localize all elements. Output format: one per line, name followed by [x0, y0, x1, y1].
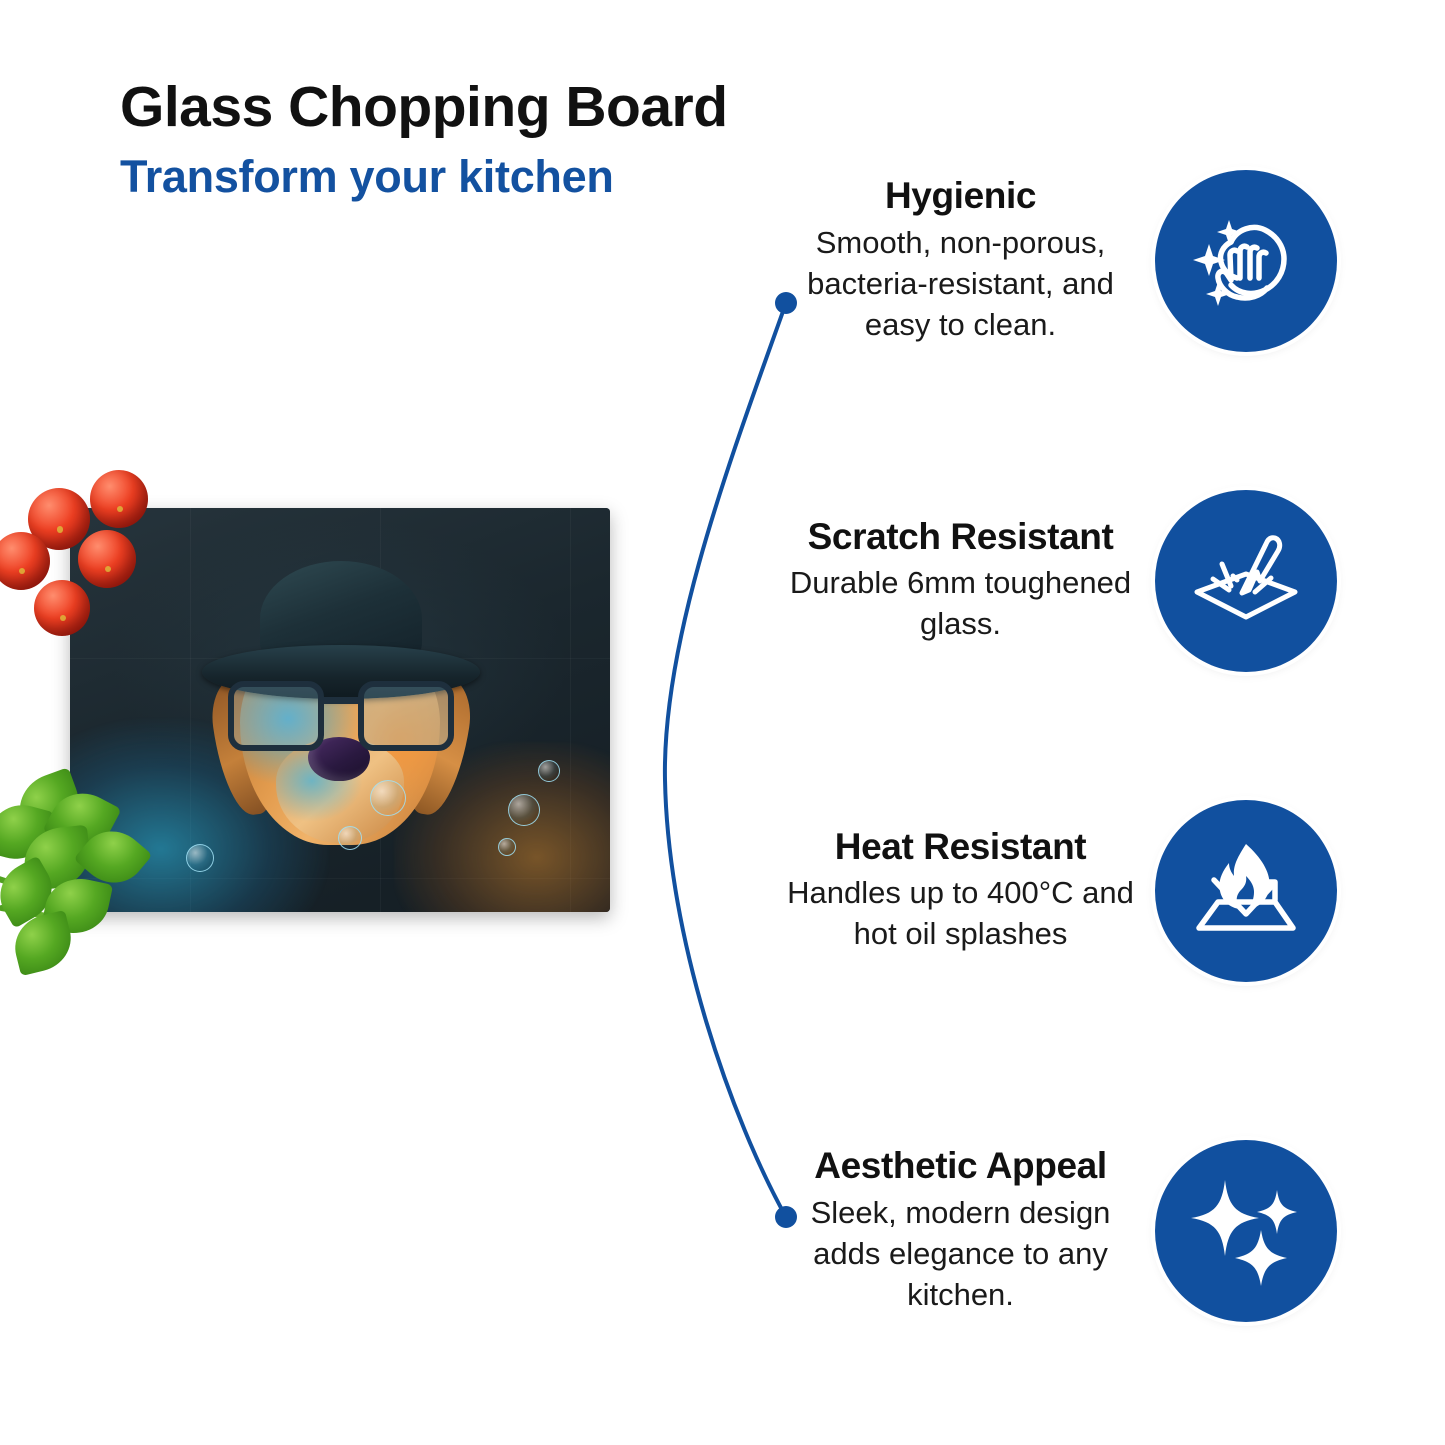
- water-bubble: [498, 838, 516, 856]
- water-bubble: [538, 760, 560, 782]
- cherry-tomato: [90, 470, 148, 528]
- feature-aesthetic-appeal: Aesthetic Appeal Sleek, modern design ad…: [780, 1140, 1380, 1322]
- feature-text-block: Aesthetic Appeal Sleek, modern design ad…: [780, 1146, 1155, 1315]
- page-title: Glass Chopping Board: [120, 78, 880, 138]
- water-bubble: [338, 826, 362, 850]
- feature-text-block: Scratch Resistant Durable 6mm toughened …: [780, 517, 1155, 646]
- dog-glasses: [228, 681, 454, 753]
- infographic-page: Glass Chopping Board Transform your kitc…: [0, 0, 1445, 1445]
- connector-path: [665, 303, 786, 1217]
- cherry-tomato: [0, 532, 50, 590]
- feature-description: Handles up to 400°C and hot oil splashes: [780, 873, 1141, 955]
- feature-heat-resistant: Heat Resistant Handles up to 400°C and h…: [780, 800, 1380, 982]
- cherry-tomato: [78, 530, 136, 588]
- feature-title: Aesthetic Appeal: [780, 1146, 1141, 1187]
- feature-scratch-resistant: Scratch Resistant Durable 6mm toughened …: [780, 490, 1380, 672]
- parsley-garnish: [0, 770, 188, 985]
- cherry-tomato: [34, 580, 90, 636]
- glasses-lens-right: [358, 681, 454, 751]
- headline-block: Glass Chopping Board Transform your kitc…: [120, 78, 880, 201]
- feature-text-block: Heat Resistant Handles up to 400°C and h…: [780, 827, 1155, 956]
- water-bubble: [508, 794, 540, 826]
- hand-wiping-sparkle-icon: [1155, 170, 1337, 352]
- feature-description: Durable 6mm toughened glass.: [780, 563, 1141, 645]
- water-bubble: [370, 780, 406, 816]
- flame-deflect-surface-icon: [1155, 800, 1337, 982]
- feature-hygienic: Hygienic Smooth, non-porous, bacteria-re…: [780, 170, 1380, 352]
- feature-title: Hygienic: [780, 176, 1141, 217]
- water-bubble: [186, 844, 214, 872]
- feature-description: Sleek, modern design adds elegance to an…: [780, 1193, 1141, 1316]
- feature-title: Scratch Resistant: [780, 517, 1141, 558]
- glasses-lens-left: [228, 681, 324, 751]
- knife-scratch-surface-icon: [1155, 490, 1337, 672]
- page-subtitle: Transform your kitchen: [120, 152, 880, 202]
- feature-description: Smooth, non-porous, bacteria-resistant, …: [780, 223, 1141, 346]
- glasses-bridge: [320, 697, 362, 704]
- three-sparkles-icon: [1155, 1140, 1337, 1322]
- feature-text-block: Hygienic Smooth, non-porous, bacteria-re…: [780, 176, 1155, 345]
- feature-title: Heat Resistant: [780, 827, 1141, 868]
